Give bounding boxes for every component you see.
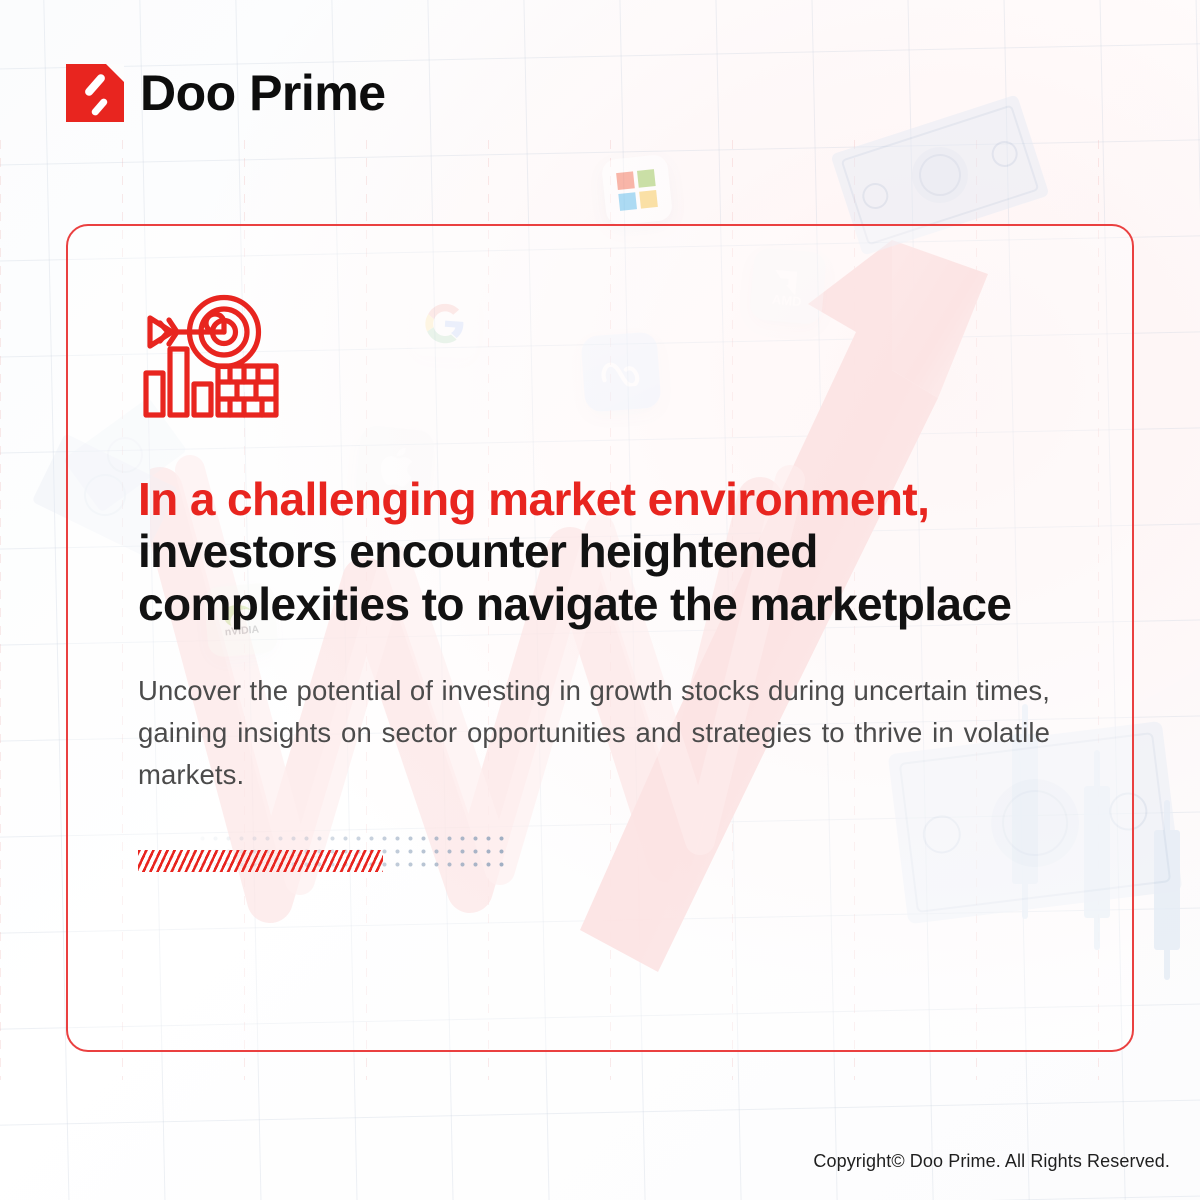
red-diagonal-hatch-bar-decor bbox=[138, 850, 383, 872]
content-card: In a challenging market environment, inv… bbox=[66, 224, 1134, 1052]
target-arrow-bar-chart-icon bbox=[138, 292, 284, 424]
microsoft-logo-icon bbox=[615, 168, 659, 212]
brand-logo[interactable]: Doo Prime bbox=[66, 64, 386, 122]
headline-rest: investors encounter heightened complexit… bbox=[138, 525, 1011, 629]
page-title: In a challenging market environment, inv… bbox=[138, 473, 1062, 630]
microsoft-logo-tile bbox=[601, 154, 674, 227]
doo-prime-mark-icon bbox=[66, 64, 124, 122]
body-paragraph: Uncover the potential of investing in gr… bbox=[138, 670, 1050, 795]
copyright-text: Copyright© Doo Prime. All Rights Reserve… bbox=[813, 1151, 1170, 1172]
brand-name: Doo Prime bbox=[140, 68, 386, 118]
headline-red-line: In a challenging market environment, bbox=[138, 473, 929, 525]
decor-strip bbox=[138, 832, 508, 880]
